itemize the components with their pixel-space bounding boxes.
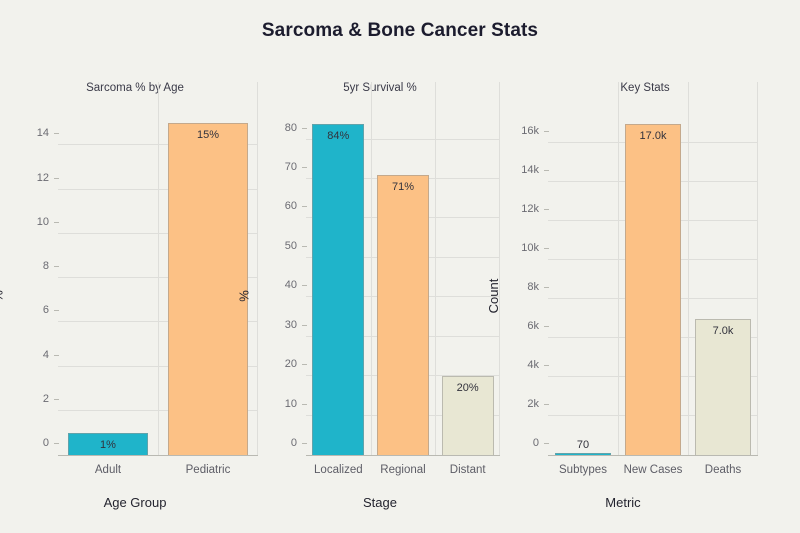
y-axis-label: Count [486, 279, 501, 314]
y-axis-label: % [236, 290, 251, 302]
x-tick-label: Subtypes [559, 464, 607, 476]
x-axis-label: Metric [468, 495, 778, 510]
x-tick-labels: LocalizedRegionalDistant [306, 110, 500, 455]
x-tick-label: Regional [380, 464, 425, 476]
y-tick-label: 10 [285, 398, 306, 410]
y-tick-label: 0 [533, 437, 548, 449]
x-tick-labels: SubtypesNew CasesDeaths [548, 110, 758, 455]
y-tick-label: 70 [285, 161, 306, 173]
y-tick-label: 30 [285, 319, 306, 331]
x-tick-label: Adult [95, 464, 121, 476]
y-tick-label: 2 [43, 393, 58, 405]
plot-area: 02468101214 1%15% AdultPediatric [58, 110, 258, 456]
y-tick-label: 4k [527, 359, 548, 371]
chart-panel-sarcoma-by-age: Sarcoma % by Age % 02468101214 1%15% Adu… [0, 76, 270, 516]
y-tick-label: 12k [521, 203, 548, 215]
chart-panel-survival: 5yr Survival % % 01020304050607080 84%71… [250, 76, 510, 516]
y-tick-label: 12 [37, 172, 58, 184]
y-tick-label: 2k [527, 398, 548, 410]
y-tick-label: 60 [285, 200, 306, 212]
y-tick-label: 14 [37, 127, 58, 139]
y-tick-label: 4 [43, 349, 58, 361]
y-tick-label: 14k [521, 164, 548, 176]
page-title: Sarcoma & Bone Cancer Stats [0, 20, 800, 42]
y-tick-label: 20 [285, 358, 306, 370]
x-tick-labels: AdultPediatric [58, 110, 258, 455]
plot-area: 02k4k6k8k10k12k14k16k 7017.0k7.0k Subtyp… [548, 110, 758, 456]
y-tick-label: 8 [43, 260, 58, 272]
chart-panel-key-stats: Key Stats Count 02k4k6k8k10k12k14k16k 70… [490, 76, 800, 516]
y-tick-label: 10 [37, 216, 58, 228]
x-tick-label: Pediatric [186, 464, 231, 476]
y-tick-label: 0 [43, 437, 58, 449]
x-tick-label: New Cases [624, 464, 683, 476]
y-tick-label: 0 [291, 437, 306, 449]
y-tick-label: 40 [285, 279, 306, 291]
y-axis-label: % [0, 290, 5, 302]
x-tick-label: Distant [450, 464, 486, 476]
y-tick-label: 6k [527, 320, 548, 332]
y-tick-label: 8k [527, 281, 548, 293]
y-tick-label: 80 [285, 122, 306, 134]
y-tick-label: 50 [285, 240, 306, 252]
x-tick-label: Localized [314, 464, 363, 476]
y-tick-label: 10k [521, 242, 548, 254]
y-tick-label: 6 [43, 304, 58, 316]
plot-area: 01020304050607080 84%71%20% LocalizedReg… [306, 110, 500, 456]
x-tick-label: Deaths [705, 464, 741, 476]
chart-figure: Sarcoma & Bone Cancer Stats Sarcoma % by… [0, 0, 800, 533]
panel-title: 5yr Survival % [250, 82, 510, 94]
panel-title: Sarcoma % by Age [0, 82, 270, 94]
x-axis-label: Age Group [0, 495, 270, 510]
panel-title: Key Stats [490, 82, 800, 94]
y-tick-label: 16k [521, 125, 548, 137]
